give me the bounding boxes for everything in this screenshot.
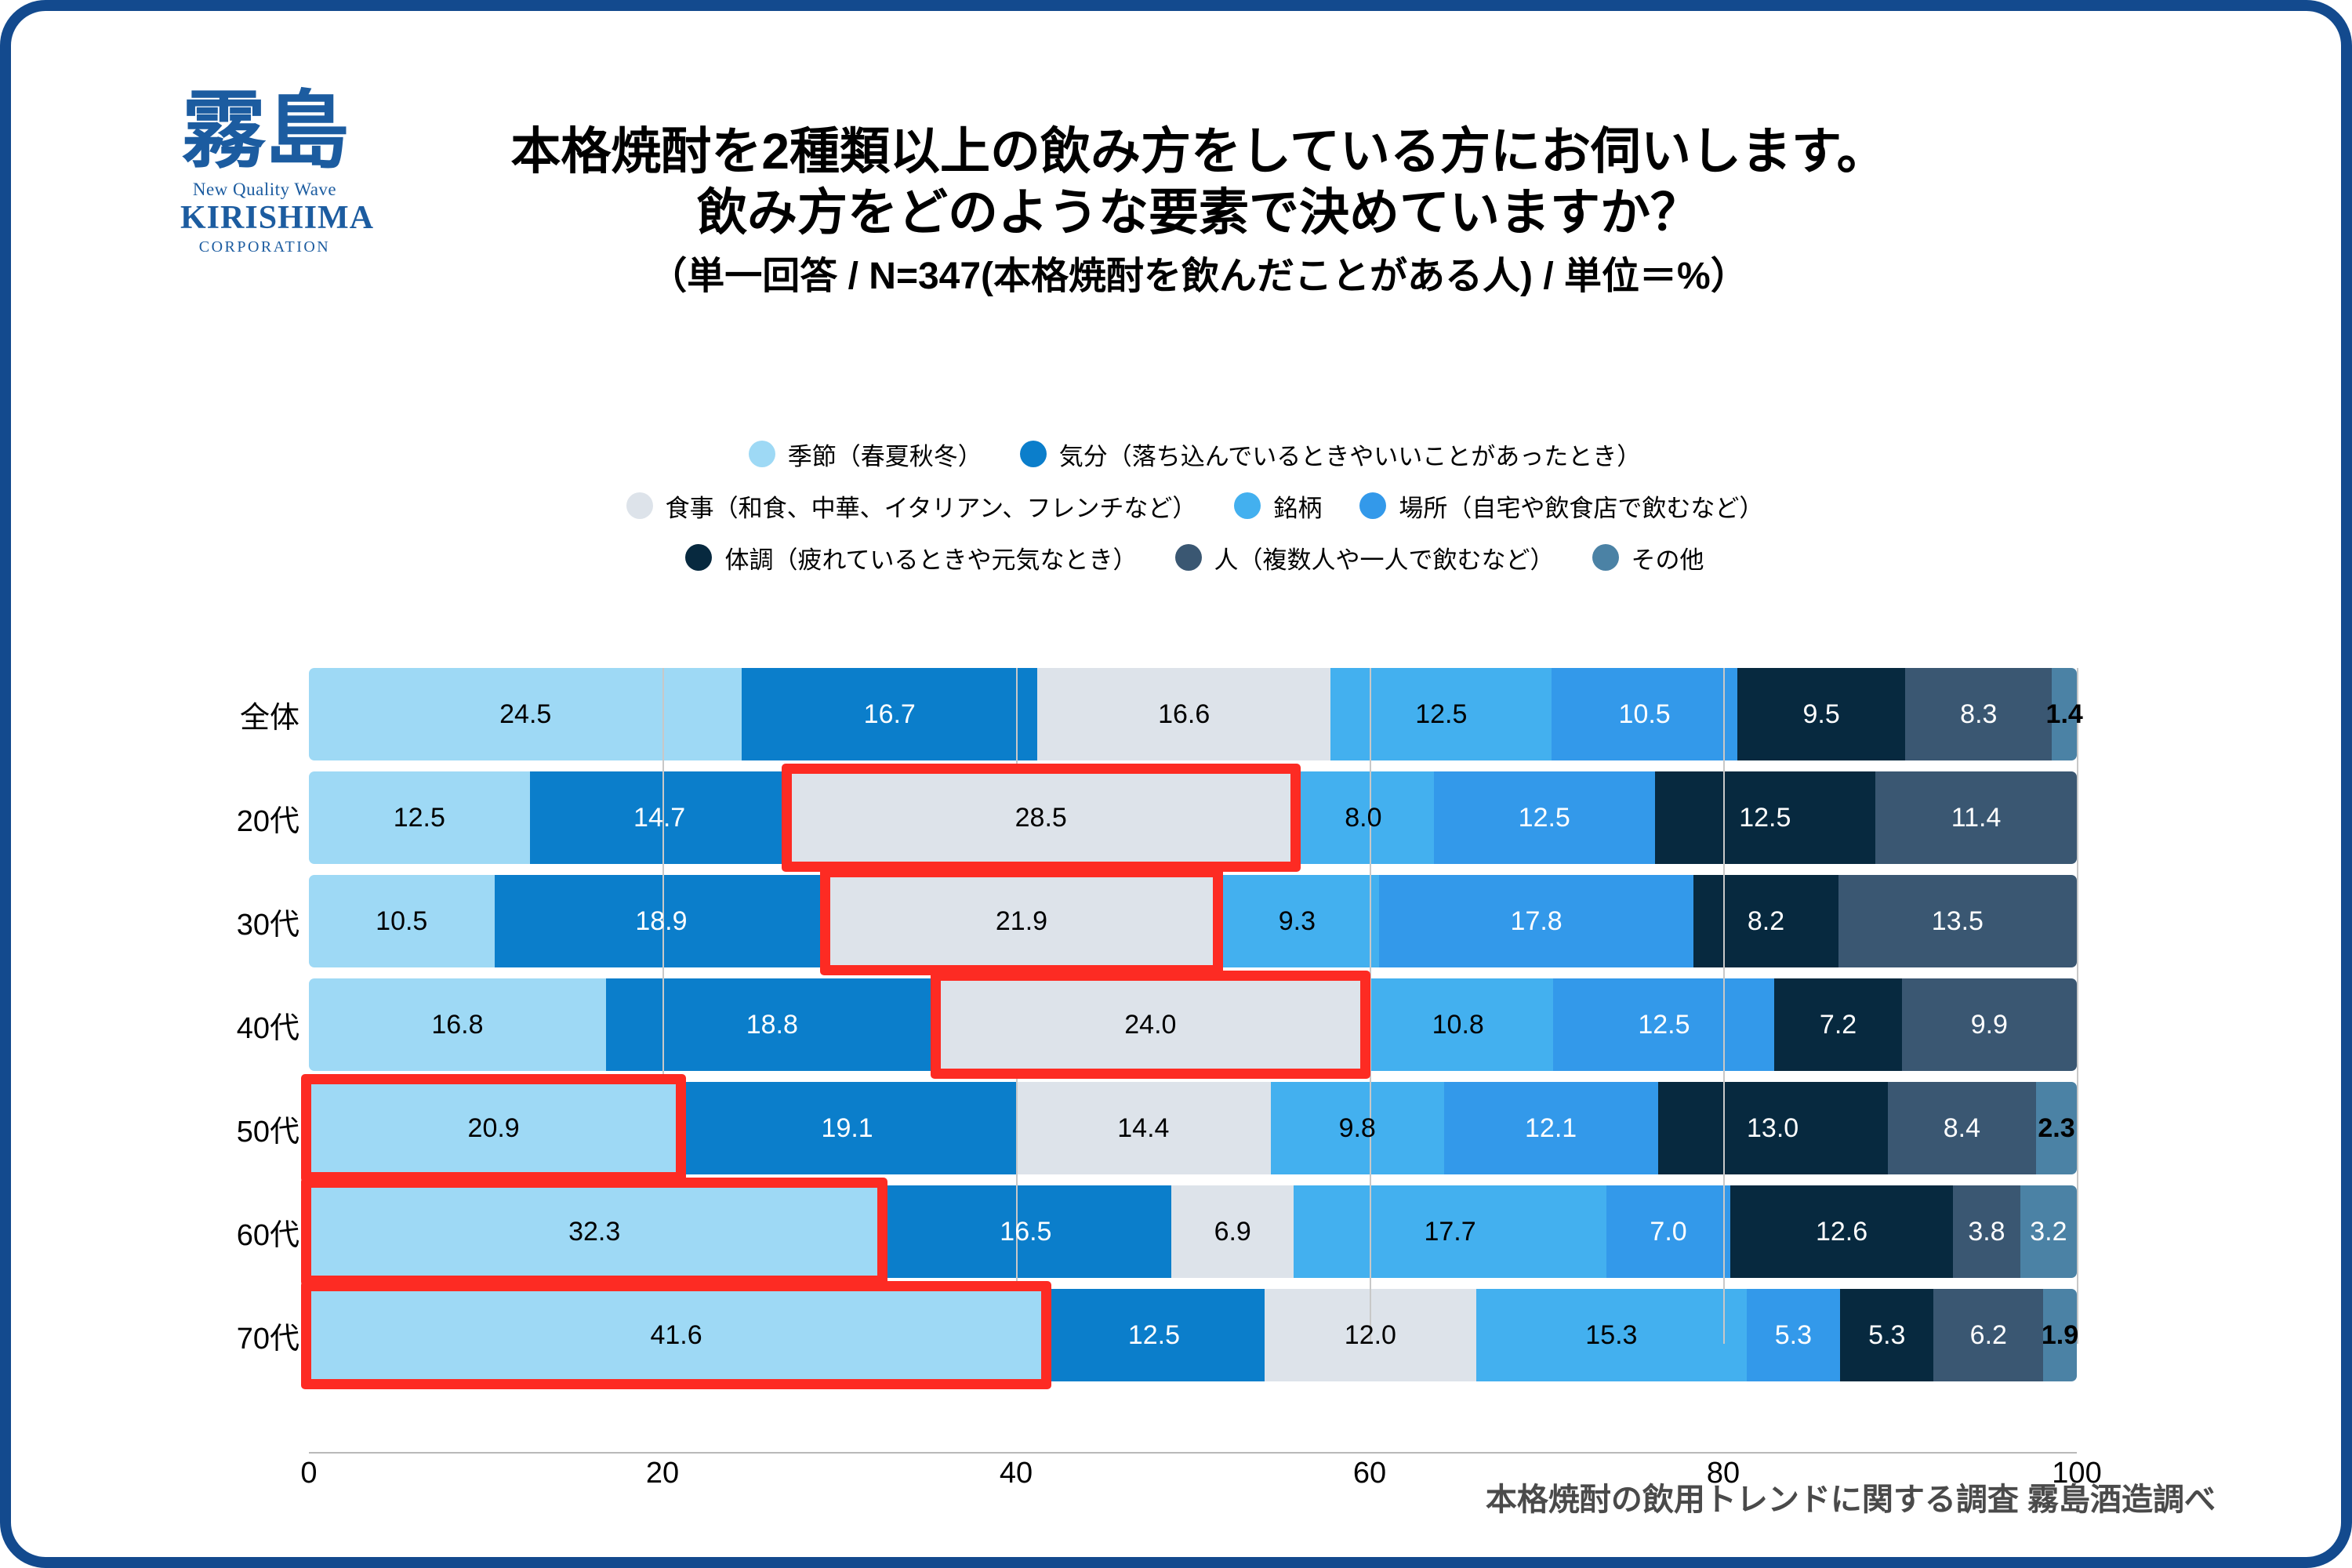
bar-segment-value: 8.4 (1944, 1113, 1980, 1144)
bar-segment-value: 14.4 (1117, 1113, 1169, 1144)
legend-item-label: 銘柄 (1273, 488, 1322, 524)
bar-segment-value: 12.5 (1638, 1010, 1690, 1040)
legend-item[interactable]: 体調（疲れているときや元気なとき） (685, 540, 1137, 575)
bar-segment[interactable]: 12.5 (1044, 1289, 1265, 1381)
chart-row: 20代12.514.728.58.012.512.511.4 (309, 771, 2214, 864)
legend-swatch-icon (1175, 544, 1202, 571)
bar-segment-value: 10.5 (376, 906, 427, 937)
bar-segment[interactable]: 8.0 (1293, 771, 1434, 864)
gridline (1723, 668, 1725, 1344)
legend-swatch-icon (1020, 441, 1047, 467)
bar-segment[interactable]: 9.9 (1902, 978, 2077, 1071)
bar-segment[interactable]: 6.9 (1171, 1185, 1294, 1278)
bar-segment[interactable]: 19.1 (678, 1082, 1016, 1174)
legend-item-label: 気分（落ち込んでいるときやいいことがあったとき） (1059, 437, 1641, 472)
bar-segment-value: 5.3 (1775, 1320, 1812, 1351)
bar-segment[interactable]: 14.4 (1016, 1082, 1271, 1174)
row-category-label: 40代 (207, 978, 299, 1071)
stacked-bar: 10.518.921.99.317.88.213.5 (309, 875, 2077, 967)
title-line-2: 飲み方をどのような要素で決めていますか？ (387, 182, 2010, 243)
bar-segment-value: 8.2 (1748, 906, 1784, 937)
bar-segment-value: 16.6 (1158, 699, 1210, 730)
stacked-bar: 24.516.716.612.510.59.58.31.4 (309, 668, 2077, 760)
bar-segment-value: 19.1 (822, 1113, 873, 1144)
bar-segment-value: 14.7 (633, 803, 685, 833)
bar-segment-value: 8.0 (1345, 803, 1381, 833)
source-note: 本格焼酎の飲用トレンドに関する調査 霧島酒造調べ (1486, 1474, 2216, 1519)
bar-segment[interactable]: 16.6 (1037, 668, 1330, 760)
bar-segment-value: 18.8 (746, 1010, 798, 1040)
bar-segment-value: 41.6 (650, 1320, 702, 1351)
bar-segment[interactable]: 2.3 (2036, 1082, 2077, 1174)
stacked-bar: 16.818.824.010.812.57.29.9 (309, 978, 2077, 1071)
title-line-1: 本格焼酎を2種類以上の飲み方をしている方にお伺いします。 (387, 121, 2010, 182)
bar-segment[interactable]: 10.5 (1552, 668, 1737, 760)
legend-swatch-icon (1234, 492, 1261, 519)
bar-segment[interactable]: 7.2 (1774, 978, 1901, 1071)
bar-segment[interactable]: 12.6 (1730, 1185, 1953, 1278)
bar-segment[interactable]: 17.7 (1294, 1185, 1606, 1278)
bar-segment-value: 24.5 (499, 699, 551, 730)
bar-segment[interactable]: 15.3 (1476, 1289, 1747, 1381)
stacked-bar: 32.316.56.917.77.012.63.83.2 (309, 1185, 2077, 1278)
bar-segment-value: 2.3 (2038, 1113, 2074, 1144)
bar-segment[interactable]: 5.3 (1747, 1289, 1840, 1381)
bar-segment-value: 10.8 (1432, 1010, 1484, 1040)
bar-segment[interactable]: 20.9 (309, 1082, 678, 1174)
bar-segment-value: 17.8 (1511, 906, 1563, 937)
bar-segment-value: 6.2 (1970, 1320, 2007, 1351)
logo-corporation-label: CORPORATION (180, 238, 349, 256)
bar-segment-value: 7.0 (1650, 1217, 1686, 1247)
row-category-label: 20代 (207, 771, 299, 864)
gridline (1370, 668, 1371, 1344)
chart-plot-area: 全体24.516.716.612.510.59.58.31.420代12.514… (309, 668, 2214, 1392)
bar-segment[interactable]: 12.5 (309, 771, 530, 864)
page-title: 本格焼酎を2種類以上の飲み方をしている方にお伺いします。 飲み方をどのような要素… (387, 121, 2010, 302)
legend-item[interactable]: 食事（和食、中華、イタリアン、フレンチなど） (626, 488, 1197, 524)
bar-segment[interactable]: 1.4 (2052, 668, 2077, 760)
legend-item-label: 体調（疲れているときや元気なとき） (724, 540, 1137, 575)
legend-item-label: 場所（自宅や飲食店で飲むなど） (1399, 488, 1763, 524)
bar-segment[interactable]: 12.5 (1553, 978, 1774, 1071)
bar-segment-value: 32.3 (568, 1217, 620, 1247)
stacked-bar: 20.919.114.49.812.113.08.42.3 (309, 1082, 2077, 1174)
bar-segment-value: 7.2 (1820, 1010, 1857, 1040)
bar-segment[interactable]: 18.8 (606, 978, 938, 1071)
stacked-bar: 12.514.728.58.012.512.511.4 (309, 771, 2077, 864)
bar-segment-value: 9.8 (1339, 1113, 1376, 1144)
bar-segment[interactable]: 12.5 (1655, 771, 1876, 864)
bar-segment[interactable]: 28.5 (789, 771, 1293, 864)
legend-item[interactable]: 場所（自宅や飲食店で飲むなど） (1359, 488, 1763, 524)
chart-row: 60代32.316.56.917.77.012.63.83.2 (309, 1185, 2214, 1278)
legend-item[interactable]: 季節（春夏秋冬） (749, 437, 982, 472)
row-category-label: 60代 (207, 1185, 299, 1278)
bar-segment[interactable]: 8.4 (1888, 1082, 2036, 1174)
bar-segment-value: 12.6 (1816, 1217, 1867, 1247)
logo-tagline: New Quality Wave (180, 180, 349, 200)
x-axis-tick-label: 20 (646, 1457, 679, 1490)
legend-row: 季節（春夏秋冬）気分（落ち込んでいるときやいいことがあったとき） (168, 434, 2222, 474)
bar-segment-value: 12.5 (394, 803, 445, 833)
row-category-label: 70代 (207, 1289, 299, 1381)
bar-segment[interactable]: 32.3 (309, 1185, 880, 1278)
bar-segment[interactable]: 16.8 (309, 978, 606, 1071)
legend-item[interactable]: 銘柄 (1234, 488, 1322, 524)
legend-swatch-icon (1592, 544, 1619, 571)
bar-segment-value: 12.5 (1739, 803, 1791, 833)
title-subtitle: （単一回答 / N=347(本格焼酎を飲んだことがある人) / 単位＝%） (387, 252, 2010, 301)
chart-row: 50代20.919.114.49.812.113.08.42.3 (309, 1082, 2214, 1174)
bar-segment-value: 15.3 (1585, 1320, 1637, 1351)
row-category-label: 30代 (207, 875, 299, 967)
bar-segment-value: 9.5 (1802, 699, 1839, 730)
legend-item-label: 人（複数人や一人で飲むなど） (1214, 540, 1555, 575)
bar-segment[interactable]: 16.7 (742, 668, 1037, 760)
bar-segment[interactable]: 14.7 (530, 771, 789, 864)
x-axis-tick-label: 0 (300, 1457, 317, 1490)
chart-row: 全体24.516.716.612.510.59.58.31.4 (309, 668, 2214, 760)
bar-segment[interactable]: 12.5 (1434, 771, 1655, 864)
bar-segment[interactable]: 9.3 (1215, 875, 1380, 967)
gridline (2077, 668, 2078, 1344)
bar-segment[interactable]: 9.8 (1271, 1082, 1444, 1174)
bar-segment[interactable]: 24.5 (309, 668, 742, 760)
legend-swatch-icon (685, 544, 712, 571)
bar-segment[interactable]: 8.3 (1905, 668, 2052, 760)
chart-row: 70代41.612.512.015.35.35.36.21.9 (309, 1289, 2214, 1381)
bar-segment[interactable]: 24.0 (938, 978, 1363, 1071)
bar-segment[interactable]: 3.2 (2020, 1185, 2077, 1278)
x-axis-tick-label: 40 (1000, 1457, 1033, 1490)
bar-segment-value: 12.5 (1415, 699, 1467, 730)
bar-segment[interactable]: 7.0 (1606, 1185, 1730, 1278)
chart-row: 40代16.818.824.010.812.57.29.9 (309, 978, 2214, 1071)
bar-segment[interactable]: 10.5 (309, 875, 495, 967)
bar-segment[interactable]: 13.5 (1838, 875, 2077, 967)
bar-segment[interactable]: 6.2 (1933, 1289, 2043, 1381)
bar-segment-value: 3.2 (2030, 1217, 2067, 1247)
bar-segment[interactable]: 3.8 (1953, 1185, 2020, 1278)
bar-segment-value: 6.9 (1214, 1217, 1251, 1247)
bar-segment-value: 11.4 (1951, 803, 2002, 833)
stacked-bar: 41.612.512.015.35.35.36.21.9 (309, 1289, 2077, 1381)
bar-segment-value: 9.3 (1279, 906, 1316, 937)
bar-segment-value: 18.9 (635, 906, 687, 937)
bar-segment[interactable]: 17.8 (1379, 875, 1693, 967)
bar-segment-value: 21.9 (996, 906, 1047, 937)
bar-segment[interactable]: 18.9 (495, 875, 829, 967)
legend-item[interactable]: その他 (1592, 540, 1704, 575)
bar-segment[interactable]: 11.4 (1875, 771, 2077, 864)
bar-segment-value: 10.5 (1619, 699, 1671, 730)
bar-segment-value: 12.1 (1525, 1113, 1577, 1144)
bar-segment-value: 28.5 (1015, 803, 1067, 833)
bar-segment-value: 8.3 (1960, 699, 1997, 730)
row-category-label: 50代 (207, 1082, 299, 1174)
bar-segment[interactable]: 13.0 (1658, 1082, 1888, 1174)
x-axis-line (309, 1452, 2077, 1454)
bar-segment[interactable]: 16.5 (880, 1185, 1171, 1278)
bar-segment-value: 13.0 (1747, 1113, 1798, 1144)
chart-legend: 季節（春夏秋冬）気分（落ち込んでいるときやいいことがあったとき）食事（和食、中華… (168, 434, 2222, 590)
bar-segment-value: 5.3 (1868, 1320, 1905, 1351)
legend-swatch-icon (1359, 492, 1386, 519)
bar-segment-value: 1.9 (2042, 1320, 2078, 1351)
bar-segment-value: 12.5 (1128, 1320, 1180, 1351)
bar-segment[interactable]: 8.2 (1693, 875, 1838, 967)
bar-segment[interactable]: 9.5 (1737, 668, 1905, 760)
stacked-bar-chart: 全体24.516.716.612.510.59.58.31.420代12.514… (207, 668, 2214, 1452)
bar-segment-value: 3.8 (1968, 1217, 2005, 1247)
legend-item-label: その他 (1632, 540, 1704, 575)
logo-company-name: KIRISHIMA (180, 200, 349, 236)
bar-segment[interactable]: 41.6 (309, 1289, 1044, 1381)
chart-row: 30代10.518.921.99.317.88.213.5 (309, 875, 2214, 967)
bar-segment-value: 16.8 (431, 1010, 483, 1040)
bar-segment[interactable]: 12.5 (1330, 668, 1552, 760)
legend-row: 体調（疲れているときや元気なとき）人（複数人や一人で飲むなど）その他 (168, 538, 2222, 577)
x-axis-tick-label: 60 (1353, 1457, 1386, 1490)
bar-segment[interactable]: 12.1 (1444, 1082, 1658, 1174)
legend-item-label: 季節（春夏秋冬） (788, 437, 982, 472)
bar-segment-value: 1.4 (2046, 699, 2083, 730)
legend-swatch-icon (626, 492, 653, 519)
poster-frame: 霧島 New Quality Wave KIRISHIMA CORPORATIO… (0, 0, 2352, 1568)
row-category-label: 全体 (207, 668, 299, 760)
bar-segment-value: 9.9 (1971, 1010, 2008, 1040)
legend-item-label: 食事（和食、中華、イタリアン、フレンチなど） (666, 488, 1197, 524)
bar-segment-value: 12.5 (1519, 803, 1570, 833)
bar-segment[interactable]: 10.8 (1363, 978, 1554, 1071)
legend-item[interactable]: 人（複数人や一人で飲むなど） (1175, 540, 1555, 575)
bar-segment-value: 13.5 (1932, 906, 1984, 937)
bar-segment[interactable]: 5.3 (1840, 1289, 1933, 1381)
bar-segment-value: 17.7 (1424, 1217, 1475, 1247)
bar-segment-value: 24.0 (1124, 1010, 1176, 1040)
legend-swatch-icon (749, 441, 775, 467)
bar-segment-value: 16.7 (864, 699, 916, 730)
logo-kanji-mark: 霧島 (180, 93, 349, 170)
bar-segment-value: 20.9 (468, 1113, 520, 1144)
kirishima-logo: 霧島 New Quality Wave KIRISHIMA CORPORATIO… (180, 93, 349, 256)
bar-segment[interactable]: 1.9 (2043, 1289, 2077, 1381)
bar-segment[interactable]: 21.9 (828, 875, 1214, 967)
legend-item[interactable]: 気分（落ち込んでいるときやいいことがあったとき） (1020, 437, 1641, 472)
legend-row: 食事（和食、中華、イタリアン、フレンチなど）銘柄場所（自宅や飲食店で飲むなど） (168, 486, 2222, 525)
bar-segment-value: 16.5 (1000, 1217, 1051, 1247)
bar-segment-value: 12.0 (1345, 1320, 1396, 1351)
